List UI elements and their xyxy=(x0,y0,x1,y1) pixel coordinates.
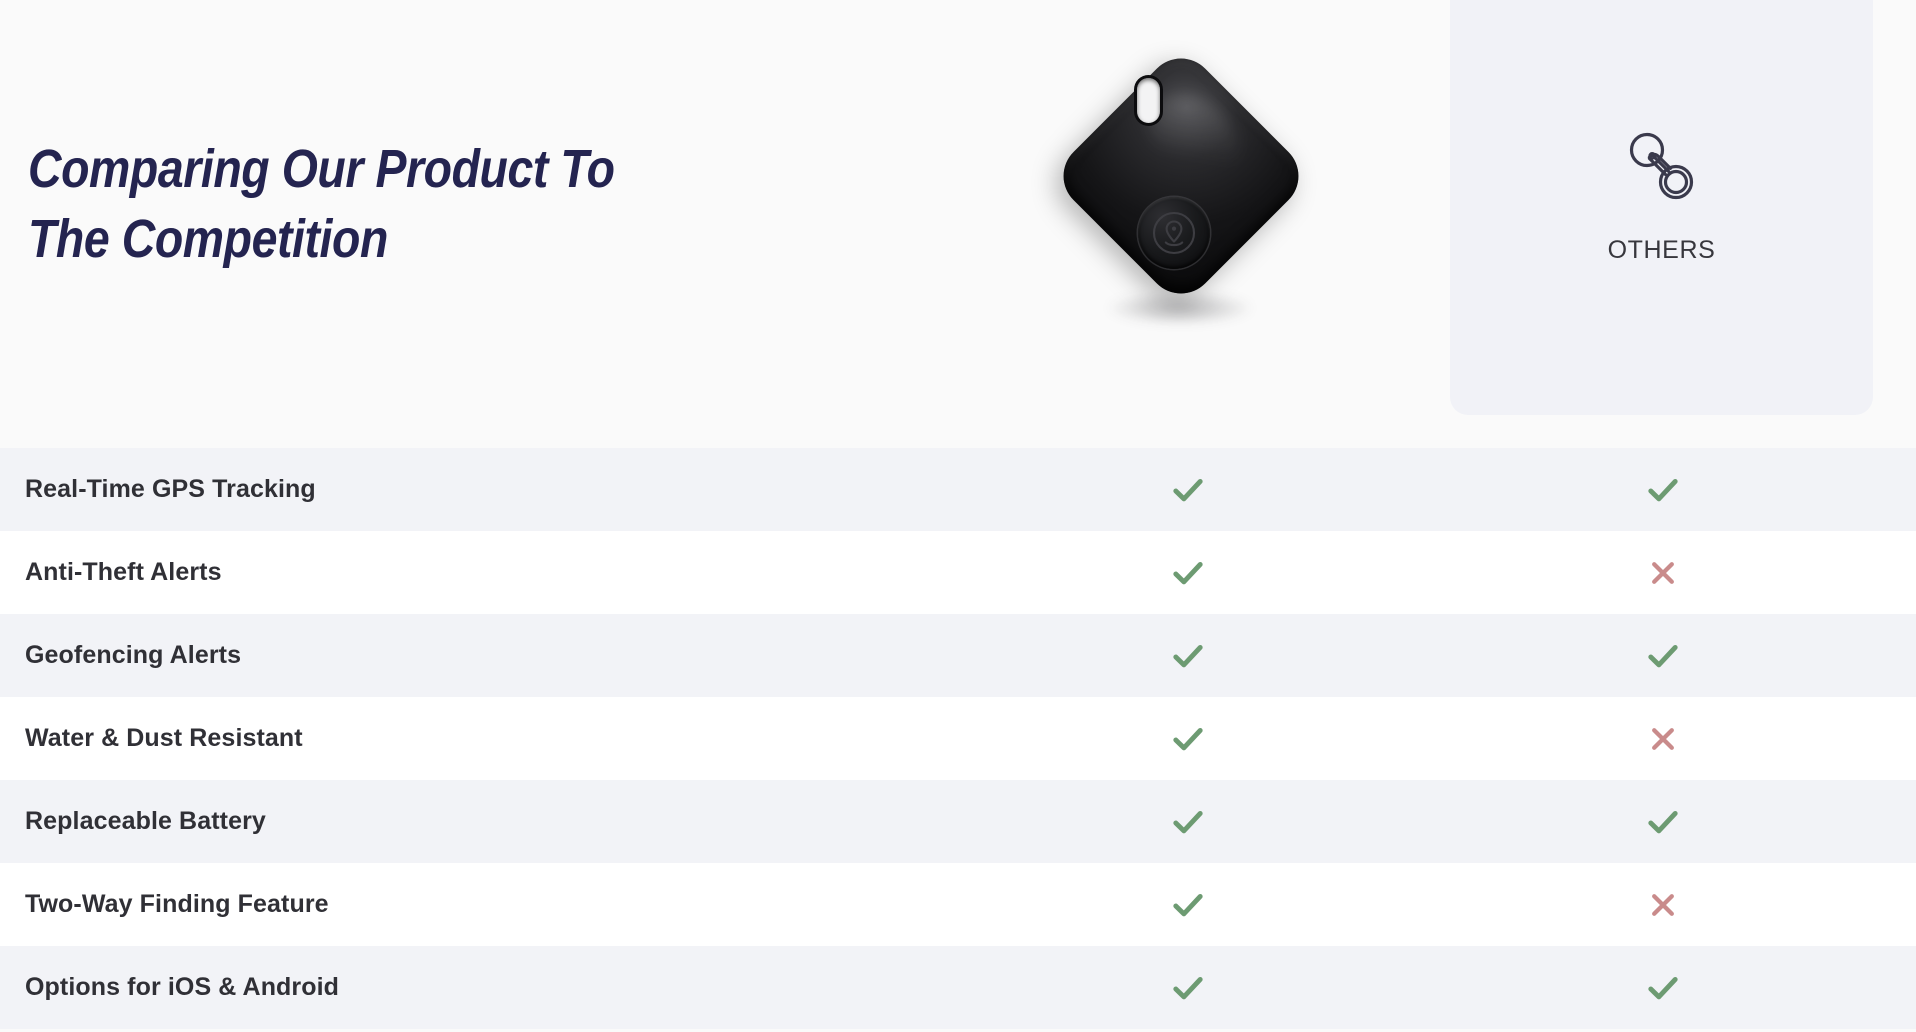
table-row: Replaceable Battery xyxy=(0,780,1916,863)
table-row: Water & Dust Resistant xyxy=(0,697,1916,780)
others-check-icon xyxy=(1603,448,1723,531)
others-cross-icon xyxy=(1603,697,1723,780)
comparison-header: Comparing Our Product To The Competition xyxy=(0,0,1916,440)
others-cross-icon xyxy=(1603,531,1723,614)
others-check-icon xyxy=(1603,946,1723,1029)
table-row: Anti-Theft Alerts xyxy=(0,531,1916,614)
feature-label: Water & Dust Resistant xyxy=(0,724,1010,753)
ours-check-icon xyxy=(1128,448,1248,531)
product-shadow xyxy=(1107,291,1253,325)
ours-check-icon xyxy=(1128,946,1248,1029)
feature-label: Two-Way Finding Feature xyxy=(0,890,1010,919)
feature-label: Real-Time GPS Tracking xyxy=(0,475,1010,504)
ours-check-icon xyxy=(1128,614,1248,697)
ours-check-icon xyxy=(1128,863,1248,946)
table-row: Two-Way Finding Feature xyxy=(0,863,1916,946)
page-title: Comparing Our Product To The Competition xyxy=(28,134,699,274)
feature-label: Options for iOS & Android xyxy=(0,973,1010,1002)
feature-label: Replaceable Battery xyxy=(0,807,1010,836)
others-check-icon xyxy=(1603,614,1723,697)
comparison-page: Comparing Our Product To The Competition xyxy=(0,0,1916,1032)
feature-label: Geofencing Alerts xyxy=(0,641,1010,670)
tracker-location-button xyxy=(1138,197,1210,269)
others-cross-icon xyxy=(1603,863,1723,946)
ours-check-icon xyxy=(1128,697,1248,780)
others-column-label: OTHERS xyxy=(1608,236,1716,265)
others-column-card: OTHERS xyxy=(1450,0,1873,415)
others-check-icon xyxy=(1603,780,1723,863)
table-row: Real-Time GPS Tracking xyxy=(0,448,1916,531)
ours-check-icon xyxy=(1128,531,1248,614)
ours-check-icon xyxy=(1128,780,1248,863)
tracker-keyring-hole xyxy=(1137,78,1160,123)
table-row: Options for iOS & Android xyxy=(0,946,1916,1029)
keyring-fob-icon xyxy=(1619,124,1705,210)
table-row: Geofencing Alerts xyxy=(0,614,1916,697)
feature-label: Anti-Theft Alerts xyxy=(0,558,1010,587)
comparison-table: Real-Time GPS TrackingAnti-Theft AlertsG… xyxy=(0,448,1916,1029)
